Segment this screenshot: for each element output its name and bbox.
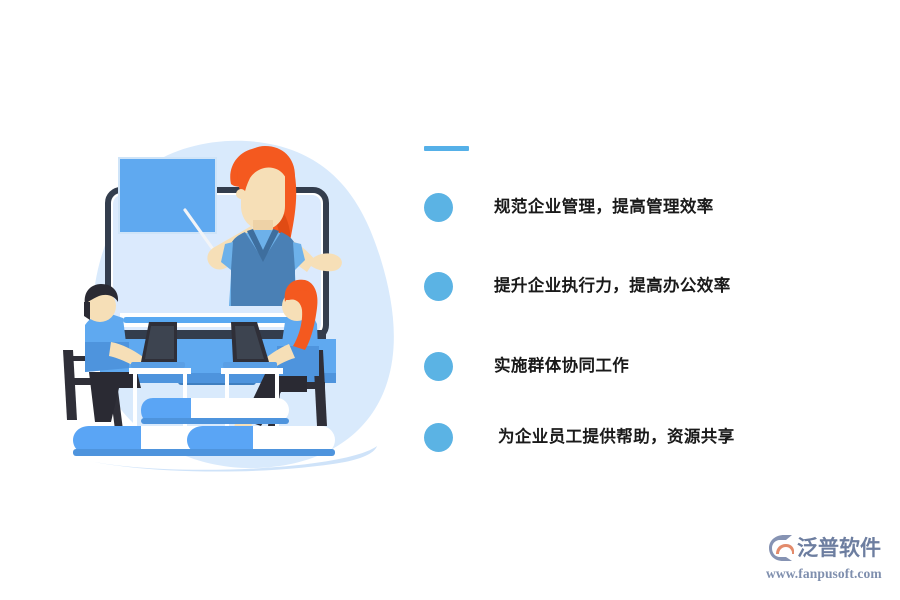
bullet-dot-icon xyxy=(424,272,453,301)
bullet-dot-icon xyxy=(424,423,453,452)
fanpu-logo-mark-icon xyxy=(766,534,796,562)
student-left-hair-back xyxy=(84,302,90,320)
table-left-leg-a xyxy=(133,374,137,430)
list-item-label: 为企业员工提供帮助，资源共享 xyxy=(498,429,735,446)
laptop-left-base xyxy=(131,362,185,368)
online-training-illustration xyxy=(45,110,445,490)
list-item[interactable]: 提升企业执行力，提高办公效率 xyxy=(424,269,864,303)
bullet-dot-icon xyxy=(424,193,453,222)
list-item[interactable]: 为企业员工提供帮助，资源共享 xyxy=(424,420,864,454)
bullet-list: 规范企业管理，提高管理效率 提升企业执行力，提高办公效率 实施群体协同工作 为企… xyxy=(424,130,864,480)
slide-canvas: 规范企业管理，提高管理效率 提升企业执行力，提高办公效率 实施群体协同工作 为企… xyxy=(0,0,900,600)
book-stack-lower xyxy=(73,426,335,456)
table-right-top xyxy=(221,368,283,374)
table-left-top xyxy=(129,368,191,374)
list-item[interactable]: 规范企业管理，提高管理效率 xyxy=(424,190,864,224)
logo-wordmark: 泛普软件 xyxy=(797,538,881,559)
book-stack-upper xyxy=(141,398,289,424)
logo-url: www.fanpusoft.com xyxy=(766,566,892,582)
list-item-label: 提升企业执行力，提高办公效率 xyxy=(494,278,731,295)
list-item-label: 实施群体协同工作 xyxy=(494,358,629,375)
presentation-slide xyxy=(119,158,216,233)
list-item[interactable]: 实施群体协同工作 xyxy=(424,349,864,383)
logo-top-row: 泛普软件 xyxy=(766,532,892,564)
accent-rule xyxy=(424,146,469,151)
list-item-label: 规范企业管理，提高管理效率 xyxy=(494,199,714,216)
presenter-ear xyxy=(236,189,246,199)
bullet-dot-icon xyxy=(424,352,453,381)
brand-logo[interactable]: 泛普软件 www.fanpusoft.com xyxy=(766,532,892,584)
laptop-right-base xyxy=(223,362,277,368)
